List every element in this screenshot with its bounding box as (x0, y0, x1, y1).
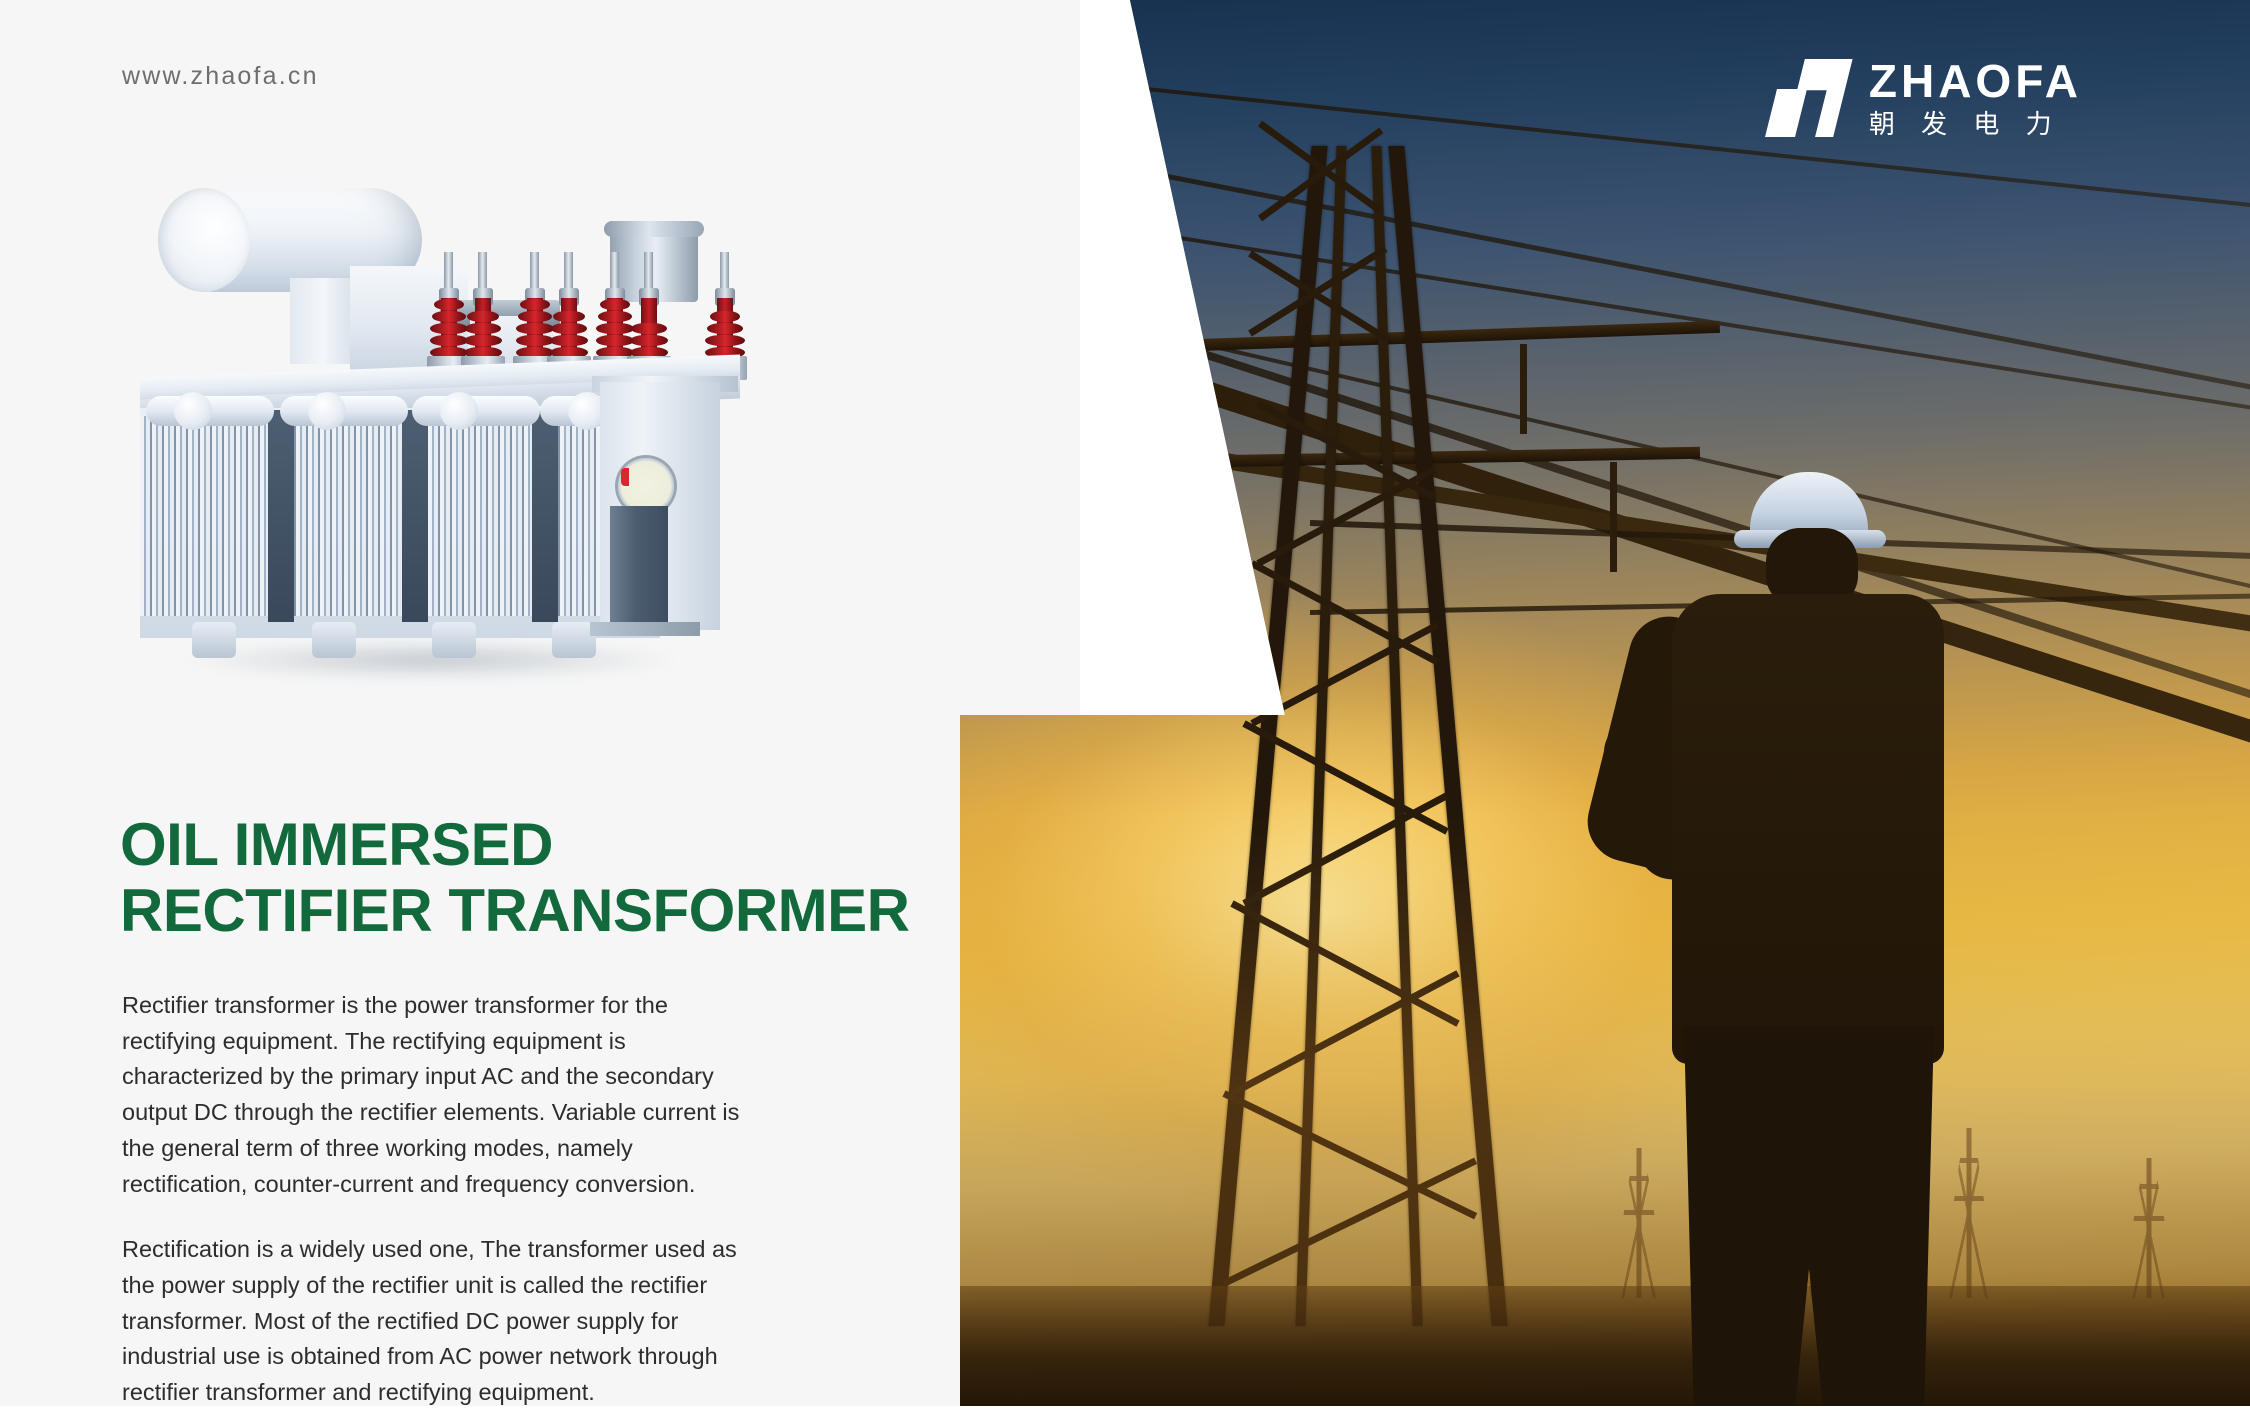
tube-end-cap (308, 392, 346, 430)
radiator-gap (268, 410, 294, 622)
description-paragraph-2: Rectification is a widely used one, The … (122, 1232, 762, 1411)
tube-end-cap (174, 392, 212, 430)
worker-legs (1684, 1026, 1934, 1406)
product-image-transformer (140, 170, 820, 730)
page-title-line-1: OIL IMMERSED (120, 812, 980, 878)
insulator-string (1520, 344, 1527, 434)
page-title: OIL IMMERSED RECTIFIER TRANSFORMER (120, 812, 980, 944)
hv-bushings-group (430, 200, 770, 380)
brand-logo[interactable]: ZHAOFA 朝 发 电 力 (1769, 58, 2082, 138)
transport-wheel (312, 622, 356, 658)
brand-name-cn: 朝 发 电 力 (1869, 112, 2082, 138)
site-url: www.zhaofa.cn (122, 62, 319, 91)
transport-wheel (192, 622, 236, 658)
transport-wheel (432, 622, 476, 658)
zhaofa-z-mark-icon (1769, 59, 1843, 137)
end-column (610, 506, 668, 630)
worker-torso (1672, 594, 1944, 1064)
tube-end-cap (440, 392, 478, 430)
bushing (464, 248, 502, 380)
brand-logo-text: ZHAOFA 朝 发 电 力 (1869, 58, 2082, 138)
base-foot (590, 622, 700, 636)
radiator-gap (402, 410, 428, 622)
radiator-gap (532, 410, 558, 622)
page-title-line-2: RECTIFIER TRANSFORMER (120, 878, 980, 944)
description-block: Rectifier transformer is the power trans… (122, 988, 762, 1411)
worker-silhouette (1580, 466, 2000, 1406)
brand-name-en: ZHAOFA (1869, 58, 2082, 104)
radiator-fins (140, 416, 660, 616)
hero-photo: ZHAOFA 朝 发 电 力 (930, 0, 2250, 1406)
insulator-string (1180, 344, 1187, 434)
left-content-panel: www.zhaofa.cn (0, 0, 1080, 1406)
product-shadow (180, 640, 680, 680)
description-paragraph-1: Rectifier transformer is the power trans… (122, 988, 762, 1202)
